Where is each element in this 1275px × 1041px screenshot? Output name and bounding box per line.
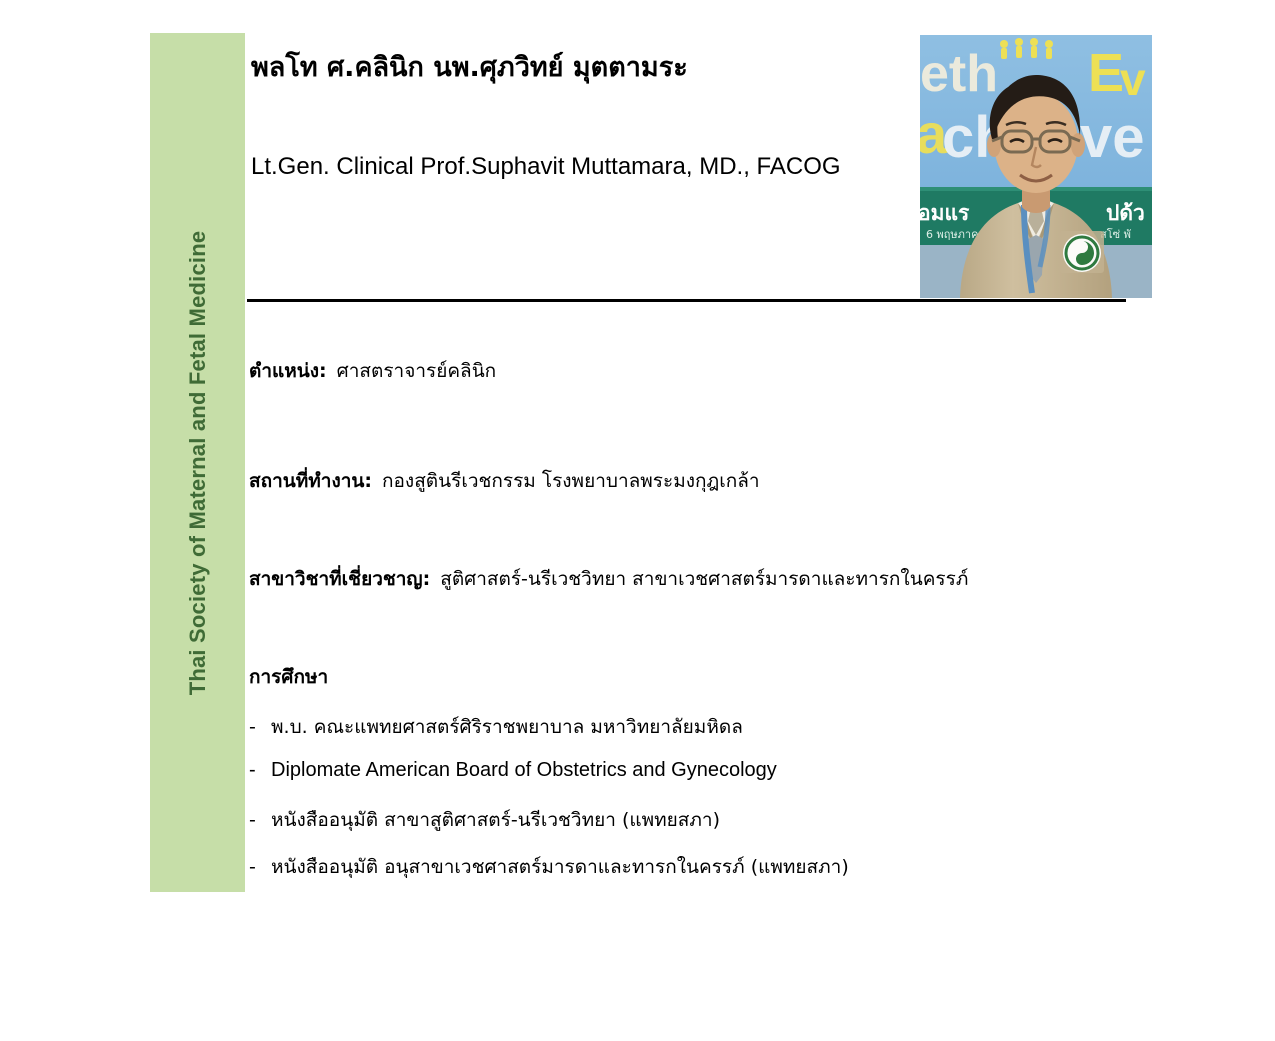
field-label-position: ตำแหน่ง: <box>249 360 327 382</box>
education-list-item: -พ.บ. คณะแพทยศาสตร์ศิริราชพยาบาล มหาวิทย… <box>249 712 743 742</box>
education-item-text: หนังสืออนุมัติ สาขาสูติศาสตร์-นรีเวชวิทย… <box>271 809 720 831</box>
field-value-specialty: สูติศาสตร์-นรีเวชวิทยา สาขาเวชศาสตร์มารด… <box>440 568 968 590</box>
education-item-text: พ.บ. คณะแพทยศาสตร์ศิริราชพยาบาล มหาวิทยา… <box>271 716 743 738</box>
page-title-english: Lt.Gen. Clinical Prof.Suphavit Muttamara… <box>251 153 841 181</box>
education-item-text: หนังสืออนุมัติ อนุสาขาเวชศาสตร์มารดาและท… <box>271 856 849 878</box>
svg-text:eth: eth <box>920 45 998 103</box>
education-item-text: Diplomate American Board of Obstetrics a… <box>271 759 777 781</box>
bullet-marker: - <box>249 809 271 831</box>
page-title-thai: พลโท ศ.คลินิก นพ.ศุภวิทย์ มุตตามระ <box>251 45 688 88</box>
field-row-workplace: สถานที่ทำงาน:กองสูตินรีเวชกรรม โรงพยาบาล… <box>249 470 760 493</box>
svg-text:6 พฤษภาค: 6 พฤษภาค <box>926 228 978 241</box>
svg-text:ปด้ว: ปด้ว <box>1106 201 1145 225</box>
field-value-position: ศาสตราจารย์คลินิก <box>337 360 497 382</box>
field-row-specialty: สาขาวิชาที่เชี่ยวชาญ:สูติศาสตร์-นรีเวชวิ… <box>249 568 968 591</box>
education-list-item: -หนังสืออนุมัติ สาขาสูติศาสตร์-นรีเวชวิท… <box>249 805 720 835</box>
svg-text:E: E <box>1088 43 1124 103</box>
svg-text:v: v <box>1120 53 1146 105</box>
slide-canvas: Thai Society of Maternal and Fetal Medic… <box>0 0 1275 1041</box>
education-heading: การศึกษา <box>249 662 328 692</box>
field-label-specialty: สาขาวิชาที่เชี่ยวชาญ: <box>249 568 430 590</box>
field-value-workplace: กองสูตินรีเวชกรรม โรงพยาบาลพระมงกุฎเกล้า <box>382 470 760 492</box>
svg-text:อมแร: อมแร <box>920 201 970 225</box>
education-list-item: -หนังสืออนุมัติ อนุสาขาเวชศาสตร์มารดาและ… <box>249 852 849 882</box>
field-label-workplace: สถานที่ทำงาน: <box>249 470 372 492</box>
header-divider <box>247 299 1126 302</box>
bullet-marker: - <box>249 856 271 878</box>
bullet-marker: - <box>249 716 271 738</box>
portrait-photo: eth E v a ch ve อมแร 6 พฤษภาค <box>920 35 1152 298</box>
education-list-item: -Diplomate American Board of Obstetrics … <box>249 759 777 782</box>
sidebar-society-label: Thai Society of Maternal and Fetal Medic… <box>185 230 211 695</box>
svg-text:สโซ่ พั: สโซ่ พั <box>1100 227 1131 241</box>
sidebar-green-band: Thai Society of Maternal and Fetal Medic… <box>150 33 245 892</box>
svg-text:ve: ve <box>1080 105 1145 170</box>
portrait-illustration: eth E v a ch ve อมแร 6 พฤษภาค <box>920 35 1152 298</box>
bullet-marker: - <box>249 759 271 782</box>
field-row-position: ตำแหน่ง:ศาสตราจารย์คลินิก <box>249 360 496 383</box>
